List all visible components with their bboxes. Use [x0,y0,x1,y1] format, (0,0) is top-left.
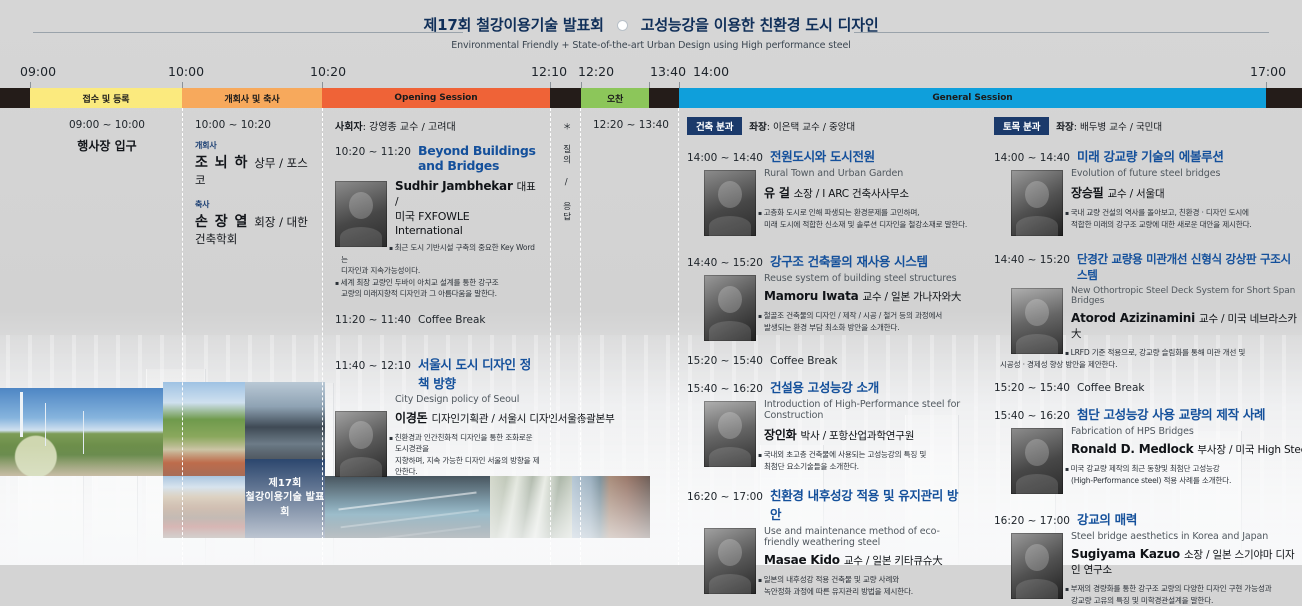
item-title-ko: 단경간 교량용 미관개선 신형식 강상판 구조시스템 [1077,251,1298,283]
column-opening-ceremony: 10:00 ~ 10:20 개회사 조 뇌 하 상무 / 포스코 축사 손 장 … [182,108,322,565]
break-time: 15:20 ~ 15:40 [994,382,1070,394]
item-title-ko: 강교의 매력 [1077,509,1137,528]
track-chair: 좌장: 이은택 교수 / 중앙대 [749,119,855,133]
page-title: 제17회 철강이용기술 발표회 고성능강을 이용한 친환경 도시 디자인 Env… [0,14,1302,51]
ceremony-time: 10:00 ~ 10:20 [195,119,312,131]
qa-label: ＊ 질의 / 응답 [561,122,570,223]
title-theme: 고성능강을 이용한 친환경 도시 디자인 [641,16,879,34]
session-item: 16:20 ~ 17:00 강교의 매력 Steel bridge aesthe… [994,496,1298,606]
column-opening-session: 사회자: 강영종 교수 / 고려대 10:20 ~ 11:20 Beyond B… [322,108,550,565]
time-tick-1000: 10:00 [168,64,204,79]
page-header: 제17회 철강이용기술 발표회 고성능강을 이용한 친환경 도시 디자인 Env… [0,0,1302,62]
session-break: 15:20 ~ 15:40 Coffee Break [994,370,1298,394]
ceremony-entry-opening-address: 개회사 조 뇌 하 상무 / 포스코 [195,140,312,188]
item-speaker-role: 교수 / 일본 키타큐슈大 [844,555,943,567]
item-time: 15:40 ~ 16:20 [687,383,763,395]
session-item: 11:40 ~ 12:10 서울시 도시 디자인 정책 방향 City Desi… [335,326,540,478]
ceremony-entry-congratulatory: 축사 손 장 열 회장 / 대한건축학회 [195,199,312,247]
registration-place: 행사장 입구 [42,137,172,154]
time-tick-1340: 13:40 [650,64,686,79]
session-item: 14:00 ~ 14:40 전원도시와 도시전원 Rural Town and … [687,135,969,230]
item-time: 16:20 ~ 17:00 [687,491,763,503]
speaker-photo-kido [704,528,756,594]
column-architecture-track: 건축 분과 좌장: 이은택 교수 / 중앙대 14:00 ~ 14:40 전원도… [679,108,979,565]
item-speaker-role: 교수 / 일본 가나자와大 [863,291,962,303]
speaker-photo-azizinamini [1011,288,1063,354]
registration-time: 09:00 ~ 10:00 [42,119,172,131]
entry-role: 개회사 [195,140,312,151]
item-title-ko: 첨단 고성능강 사용 교량의 제작 사례 [1077,404,1265,423]
item-time: 15:40 ~ 16:20 [994,410,1070,422]
item-time: 14:00 ~ 14:40 [687,152,763,164]
speaker-photo-jang-seungpil [1011,170,1063,236]
speaker-photo-sugiyama [1011,533,1063,599]
item-speaker: Sudhir Jambhekar [395,179,513,193]
column-registration: 09:00 ~ 10:00 행사장 입구 [30,108,182,565]
item-speaker: 장승필 [1071,186,1104,200]
speaker-photo-yoo-kerl [704,170,756,236]
column-qa: ＊ 질의 / 응답 [550,108,581,565]
item-time: 14:40 ~ 15:20 [687,257,763,269]
item-speaker-role: 부사장 / 미국 High Steel Structures, Inc. [1197,444,1302,456]
session-item: 16:20 ~ 17:00 친환경 내후성강 적용 및 유지관리 방안 Use … [687,472,969,597]
bullet-line: 시공성 · 경제성 향상 방안을 제안한다. [994,359,1298,371]
break-label: Coffee Break [1077,382,1145,394]
segment-opening-session: Opening Session [322,88,550,108]
bullet-dot-icon [618,21,627,30]
item-time: 10:20 ~ 11:20 [335,146,411,158]
track-tag-civil: 토목 분과 [994,117,1049,135]
column-civil-track: 토목 분과 좌장: 배두병 교수 / 국민대 14:00 ~ 14:40 미래 … [986,108,1302,565]
item-title-ko: 강구조 건축물의 재사용 시스템 [770,251,928,270]
item-speaker: Atorod Azizinamini [1071,311,1195,325]
segment-opening-ceremony: 개회사 및 축사 [182,88,322,108]
speaker-photo-jambhekar [335,181,387,247]
session-item: 14:00 ~ 14:40 미래 강교량 기술의 에볼루션 Evolution … [994,135,1298,230]
chair-value: : 이은택 교수 / 중앙대 [767,122,855,133]
item-time: 14:00 ~ 14:40 [994,152,1070,164]
item-speaker: Sugiyama Kazuo [1071,547,1180,561]
item-speaker: Mamoru Iwata [764,289,859,303]
speaker-photo-jang-inhwa [704,401,756,467]
schedule-columns: 09:00 ~ 10:00 행사장 입구 10:00 ~ 10:20 개회사 조… [0,108,1302,565]
speaker-photo-lee-kyungdon [335,411,387,477]
time-tick-1220: 12:20 [578,64,614,79]
entry-name-line: 손 장 열 회장 / 대한건축학회 [195,211,312,247]
page-subtitle: Environmental Friendly + State-of-the-ar… [0,40,1302,51]
timeline-axis: 09:00 10:00 10:20 12:10 12:20 13:40 14:0… [0,62,1302,88]
chair-label: 좌장 [749,122,766,133]
break-time: 11:20 ~ 11:40 [335,314,411,326]
speaker-photo-iwata [704,275,756,341]
session-color-bar: 접수 및 등록 개회사 및 축사 Opening Session 오찬 Gene… [0,88,1302,108]
opening-session-host: 사회자: 강영종 교수 / 고려대 [335,118,540,133]
entry-name-line: 조 뇌 하 상무 / 포스코 [195,152,312,188]
item-title-ko: Beyond Buildings and Bridges [418,143,540,173]
break-label: Coffee Break [770,355,838,367]
item-time: 16:20 ~ 17:00 [994,515,1070,527]
session-item: 15:40 ~ 16:20 첨단 고성능강 사용 교량의 제작 사례 Fabri… [994,394,1298,486]
item-title-ko: 친환경 내후성강 적용 및 유지관리 방안 [770,485,969,523]
session-item: 14:40 ~ 15:20 강구조 건축물의 재사용 시스템 Reuse sys… [687,238,969,333]
break-label: Coffee Break [418,314,486,326]
item-time: 14:40 ~ 15:20 [994,254,1070,266]
item-title-ko: 전원도시와 도시전원 [770,146,875,165]
session-item: 14:40 ~ 15:20 단경간 교량용 미관개선 신형식 강상판 구조시스템… [994,238,1298,370]
item-title-ko: 건설용 고성능강 소개 [770,377,879,396]
host-label: 사회자 [335,122,363,133]
entry-name: 손 장 열 [195,214,248,230]
session-break: 11:20 ~ 11:40 Coffee Break [335,300,540,326]
item-bullets: 최근 도시 기반시설 구축의 중요한 Key Word는 디자인과 지속가능성이… [335,242,540,300]
item-speaker-role: 박사 / 포항산업과학연구원 [801,430,915,442]
time-tick-1400: 14:00 [693,64,729,79]
track-chair: 좌장: 배두병 교수 / 국민대 [1056,119,1162,133]
item-speaker: Ronald D. Medlock [1071,442,1193,456]
lunch-time: 12:20 ~ 13:40 [593,119,668,131]
time-tick-0900: 09:00 [20,64,56,79]
time-tick-1020: 10:20 [310,64,346,79]
title-event-name: 제17회 철강이용기술 발표회 [424,16,604,34]
item-title-ko: 미래 강교량 기술의 에볼루션 [1077,146,1224,165]
chair-label: 좌장 [1056,122,1073,133]
item-time: 11:40 ~ 12:10 [335,360,411,372]
entry-name: 조 뇌 하 [195,155,248,171]
item-speaker-role: 교수 / 서울대 [1108,188,1165,200]
track-tag-architecture: 건축 분과 [687,117,742,135]
session-item: 15:40 ~ 16:20 건설용 고성능강 소개 Introduction o… [687,367,969,472]
item-speaker: 유 걸 [764,186,790,200]
host-value: : 강영종 교수 / 고려대 [363,122,456,133]
segment-general-session: General Session [679,88,1266,108]
chair-value: : 배두병 교수 / 국민대 [1074,122,1162,133]
item-speaker: 장인화 [764,428,797,442]
item-title-ko: 서울시 도시 디자인 정책 방향 [418,354,540,392]
item-speaker-role: 소장 / I ARC 건축사사무소 [794,188,909,200]
bullet-line: 디자인과 지속가능성이다. [335,265,540,277]
column-lunch: 12:20 ~ 13:40 [581,108,679,565]
segment-lunch: 오찬 [581,88,649,108]
item-speaker: 이경돈 [395,411,428,425]
bullet-line: 교량의 미래지향적 디자인과 그 아름다움을 말한다. [335,288,540,300]
item-title-en: City Design policy of Seoul [395,394,540,405]
time-tick-1700: 17:00 [1250,64,1286,79]
entry-role: 축사 [195,199,312,210]
session-item: 10:20 ~ 11:20 Beyond Buildings and Bridg… [335,133,540,300]
time-tick-1210: 12:10 [531,64,567,79]
session-break: 15:20 ~ 15:40 Coffee Break [687,343,969,367]
bullet-line: 세계 최장 교량인 두바이 아치교 설계를 통한 강구조 [335,277,540,289]
speaker-photo-medlock [1011,428,1063,494]
break-time: 15:20 ~ 15:40 [687,355,763,367]
segment-registration: 접수 및 등록 [30,88,182,108]
